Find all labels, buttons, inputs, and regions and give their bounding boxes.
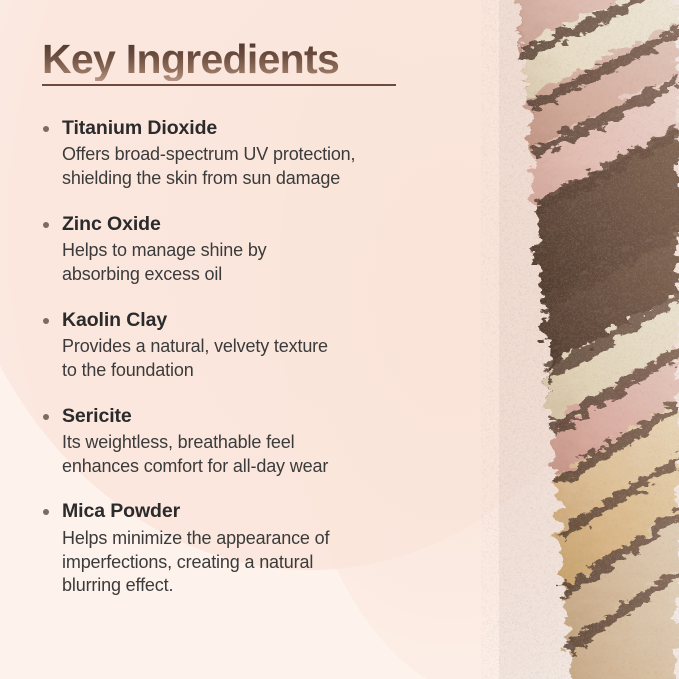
powder-swatch-strip — [469, 0, 679, 679]
bullet-icon — [43, 318, 49, 324]
bullet-icon — [43, 509, 49, 515]
ingredient-description: Provides a natural, velvety texture to t… — [62, 335, 442, 383]
list-item: Mica Powder Helps minimize the appearanc… — [42, 499, 442, 598]
ingredient-name: Mica Powder — [62, 499, 442, 524]
title-underline — [42, 84, 396, 86]
ingredient-name: Kaolin Clay — [62, 308, 442, 333]
ingredient-description: Helps to manage shine by absorbing exces… — [62, 239, 442, 287]
list-item: Titanium Dioxide Offers broad-spectrum U… — [42, 116, 442, 191]
list-item: Sericite Its weightless, breathable feel… — [42, 404, 442, 479]
bullet-icon — [43, 414, 49, 420]
bullet-icon — [43, 222, 49, 228]
ingredient-name: Sericite — [62, 404, 442, 429]
ingredient-description: Offers broad-spectrum UV protection, shi… — [62, 143, 442, 191]
ingredient-name: Zinc Oxide — [62, 212, 442, 237]
ingredient-name: Titanium Dioxide — [62, 116, 442, 141]
ingredient-description: Helps minimize the appearance of imperfe… — [62, 527, 442, 598]
bullet-icon — [43, 126, 49, 132]
ingredients-list: Titanium Dioxide Offers broad-spectrum U… — [42, 116, 442, 598]
list-item: Zinc Oxide Helps to manage shine by abso… — [42, 212, 442, 287]
list-item: Kaolin Clay Provides a natural, velvety … — [42, 308, 442, 383]
key-ingredients-infographic: Key Ingredients Titanium Dioxide Offers … — [0, 0, 679, 679]
content-column: Key Ingredients Titanium Dioxide Offers … — [42, 38, 442, 598]
ingredient-description: Its weightless, breathable feel enhances… — [62, 431, 442, 479]
page-title: Key Ingredients — [42, 38, 398, 86]
page-title-text: Key Ingredients — [42, 38, 398, 81]
